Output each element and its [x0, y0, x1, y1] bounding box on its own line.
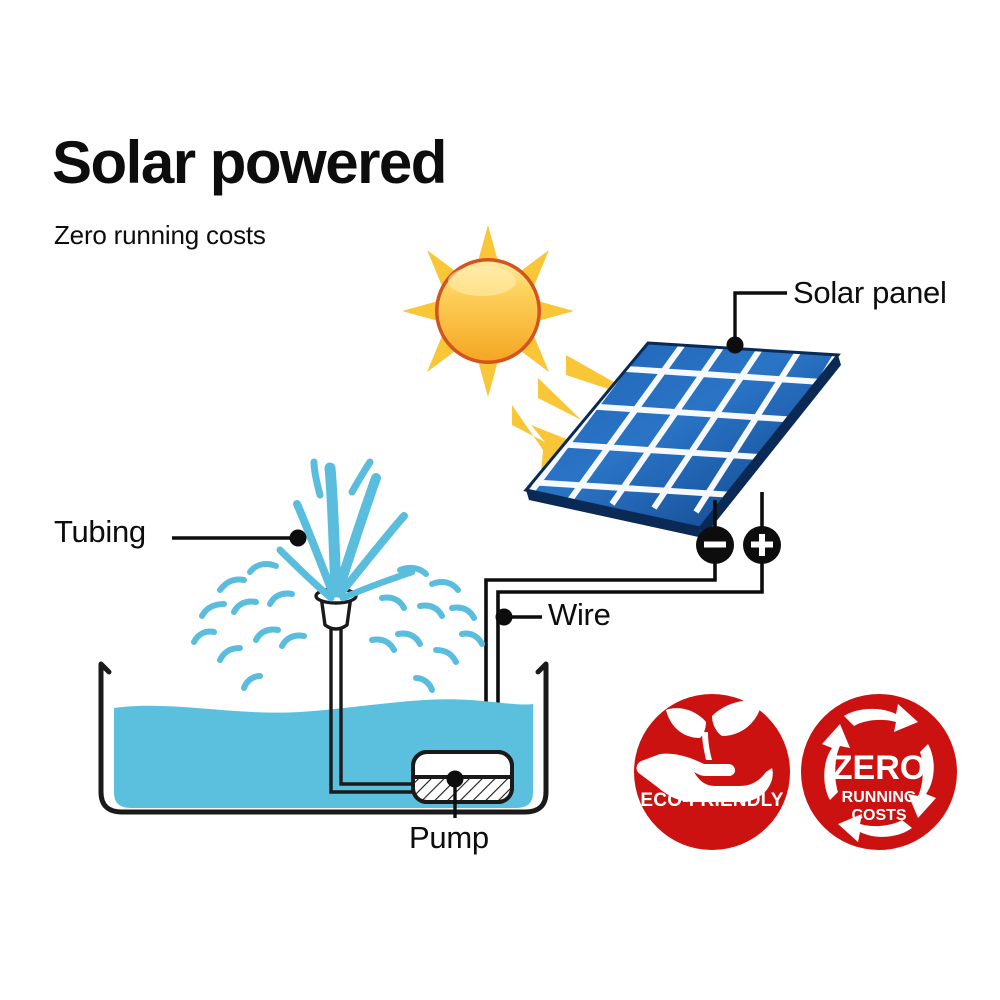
label-pump: Pump — [409, 822, 489, 853]
badge-zero-line2: RUNNING — [842, 789, 917, 806]
terminal-positive-icon — [743, 526, 781, 564]
badge-zero-line3: COSTS — [851, 807, 906, 824]
badge-eco-friendly: ECO-FRIENDLY — [634, 694, 790, 850]
label-tubing: Tubing — [54, 516, 146, 547]
label-solar-panel: Solar panel — [793, 277, 947, 308]
page-title: Solar powered — [52, 133, 446, 193]
label-wire: Wire — [548, 599, 611, 630]
badge-zero-running-costs: ZERO RUNNING COSTS — [801, 694, 957, 850]
solar-panel-leader — [735, 293, 787, 345]
wire-leader — [496, 609, 543, 626]
badge-zero-line1: ZERO — [832, 749, 926, 787]
tubing-leader — [172, 530, 307, 547]
badge-eco-label: ECO-FRIENDLY — [640, 790, 783, 811]
water-spray-icon — [194, 462, 482, 690]
solar-panel-anchor-dot — [727, 337, 744, 354]
page-subtitle: Zero running costs — [54, 222, 266, 248]
sun-icon — [402, 225, 574, 397]
terminal-negative-icon — [696, 526, 734, 564]
infographic-canvas: ECO-FRIENDLY ZERO RUNNING COSTS Solar po… — [0, 0, 1000, 1000]
